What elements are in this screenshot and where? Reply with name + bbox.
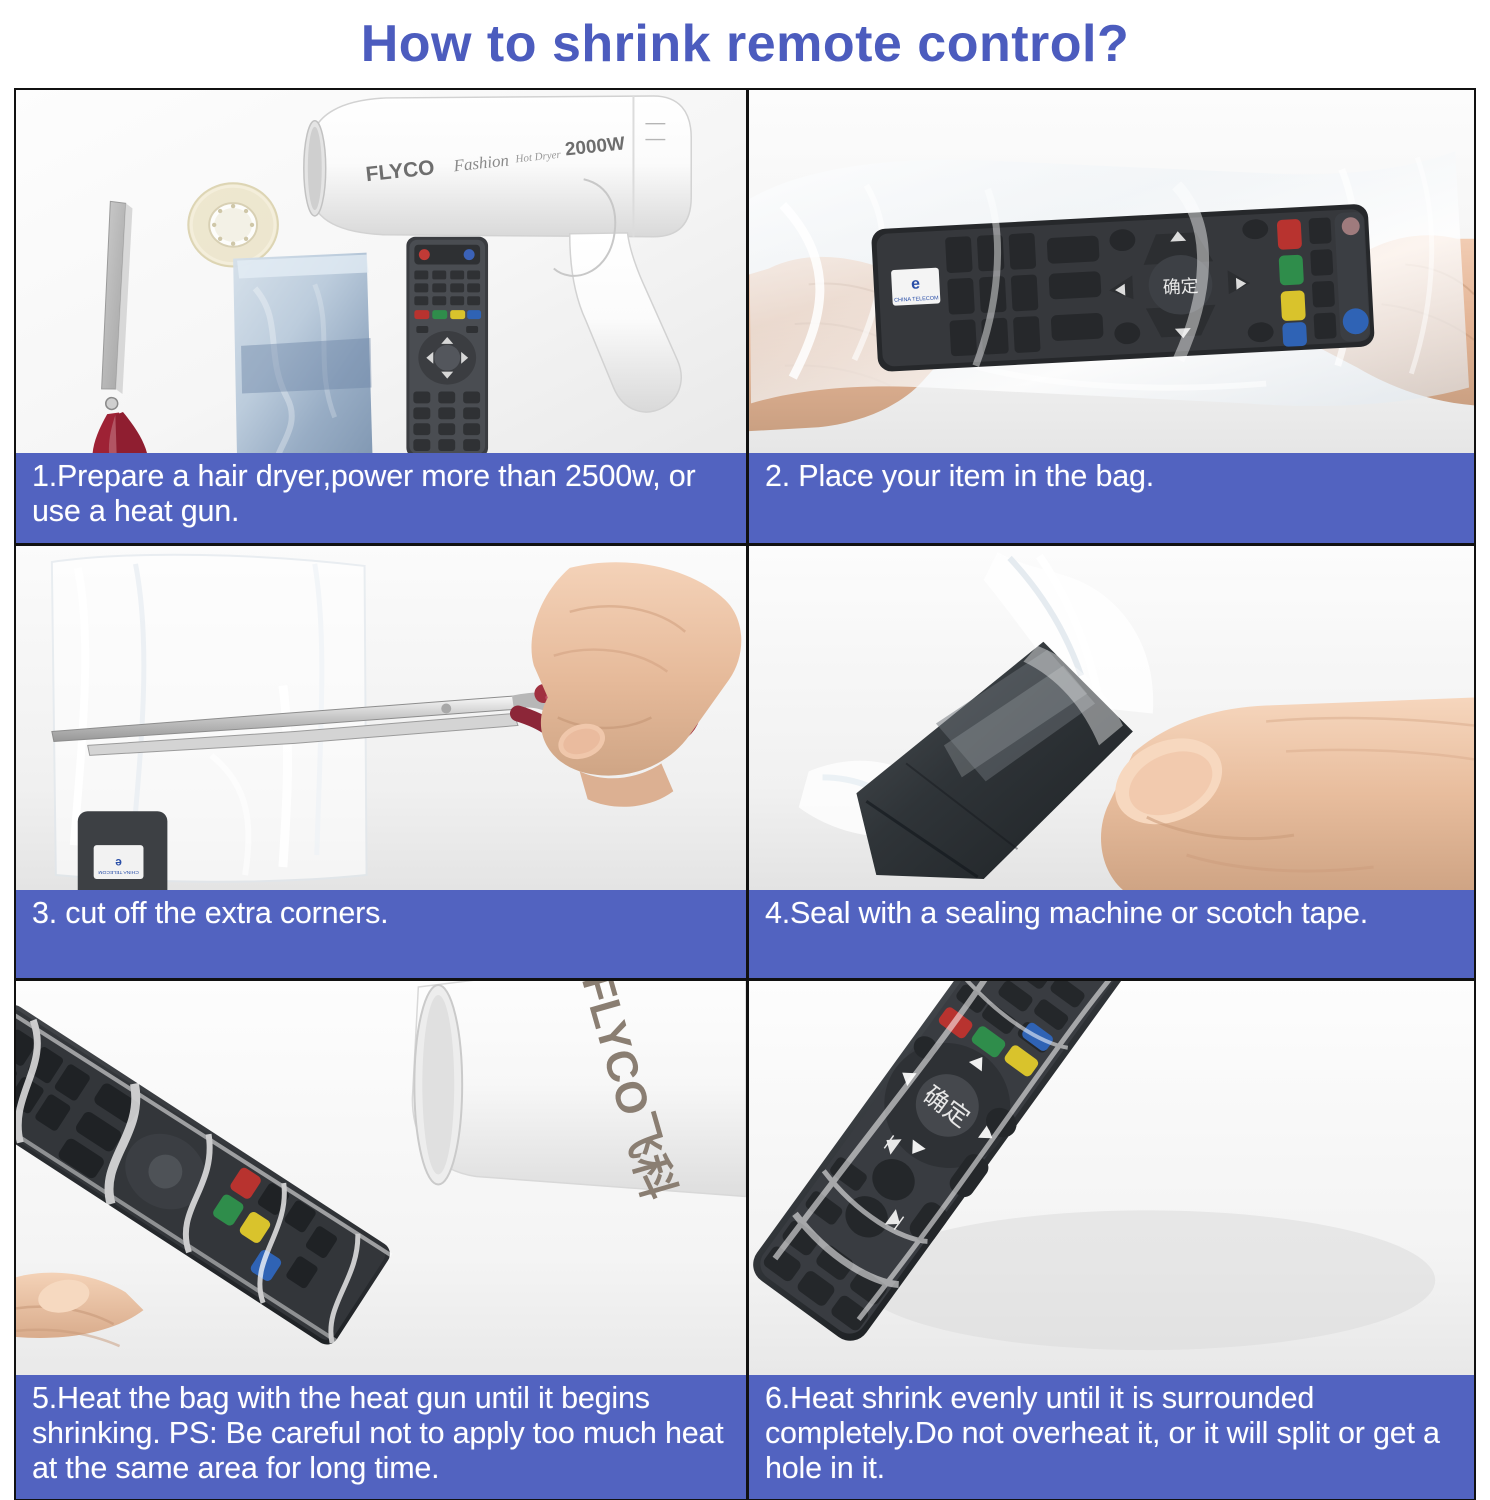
hair-dryer-nozzle-illustration: FLYCO飞科 [412, 981, 746, 1205]
step-photo-4 [749, 546, 1474, 890]
page-title: How to shrink remote control? [361, 18, 1130, 70]
step-caption-3: 3. cut off the extra corners. [16, 890, 746, 978]
infographic-page: How to shrink remote control? [0, 0, 1490, 1500]
step-caption-2: 2. Place your item in the bag. [749, 453, 1474, 543]
page-title-bar: How to shrink remote control? [0, 0, 1490, 88]
step-caption-6: 6.Heat shrink evenly until it is surroun… [749, 1375, 1474, 1499]
step-photo-2: e CHINA TELECOM [749, 90, 1474, 453]
remote-control-illustration [406, 237, 488, 453]
step-panel-4: 4.Seal with a sealing machine or scotch … [747, 544, 1476, 979]
step-panel-1: FLYCO Fashion Hot Dryer 2000W 1.Prepare … [14, 88, 747, 544]
step-panel-3: e CHINA TELECOM [14, 544, 747, 979]
step-panel-5: FLYCO飞科 [14, 979, 747, 1500]
tape-roll-illustration [188, 183, 278, 266]
remote-brand-label: CHINA TELECOM [98, 869, 138, 875]
step-panel-2: e CHINA TELECOM [747, 88, 1476, 544]
remote-control-illustration: e CHINA TELECOM [78, 811, 168, 890]
remote-control-illustration: e CHINA TELECOM [871, 204, 1375, 373]
step-photo-3: e CHINA TELECOM [16, 546, 746, 890]
step-panel-6: 确定 [747, 979, 1476, 1500]
step-caption-5: 5.Heat the bag with the heat gun until i… [16, 1375, 746, 1499]
step-caption-1: 1.Prepare a hair dryer,power more than 2… [16, 453, 746, 543]
step-photo-6: 确定 [749, 981, 1474, 1375]
shrink-bag-illustration [233, 253, 372, 453]
remote-ok-label: 确定 [1162, 276, 1199, 298]
svg-text:e: e [115, 856, 122, 870]
step-caption-4: 4.Seal with a sealing machine or scotch … [749, 890, 1474, 978]
steps-grid: FLYCO Fashion Hot Dryer 2000W 1.Prepare … [14, 88, 1476, 1500]
svg-text:e: e [911, 275, 921, 292]
step-photo-1: FLYCO Fashion Hot Dryer 2000W [16, 90, 746, 453]
step-photo-5: FLYCO飞科 [16, 981, 746, 1375]
